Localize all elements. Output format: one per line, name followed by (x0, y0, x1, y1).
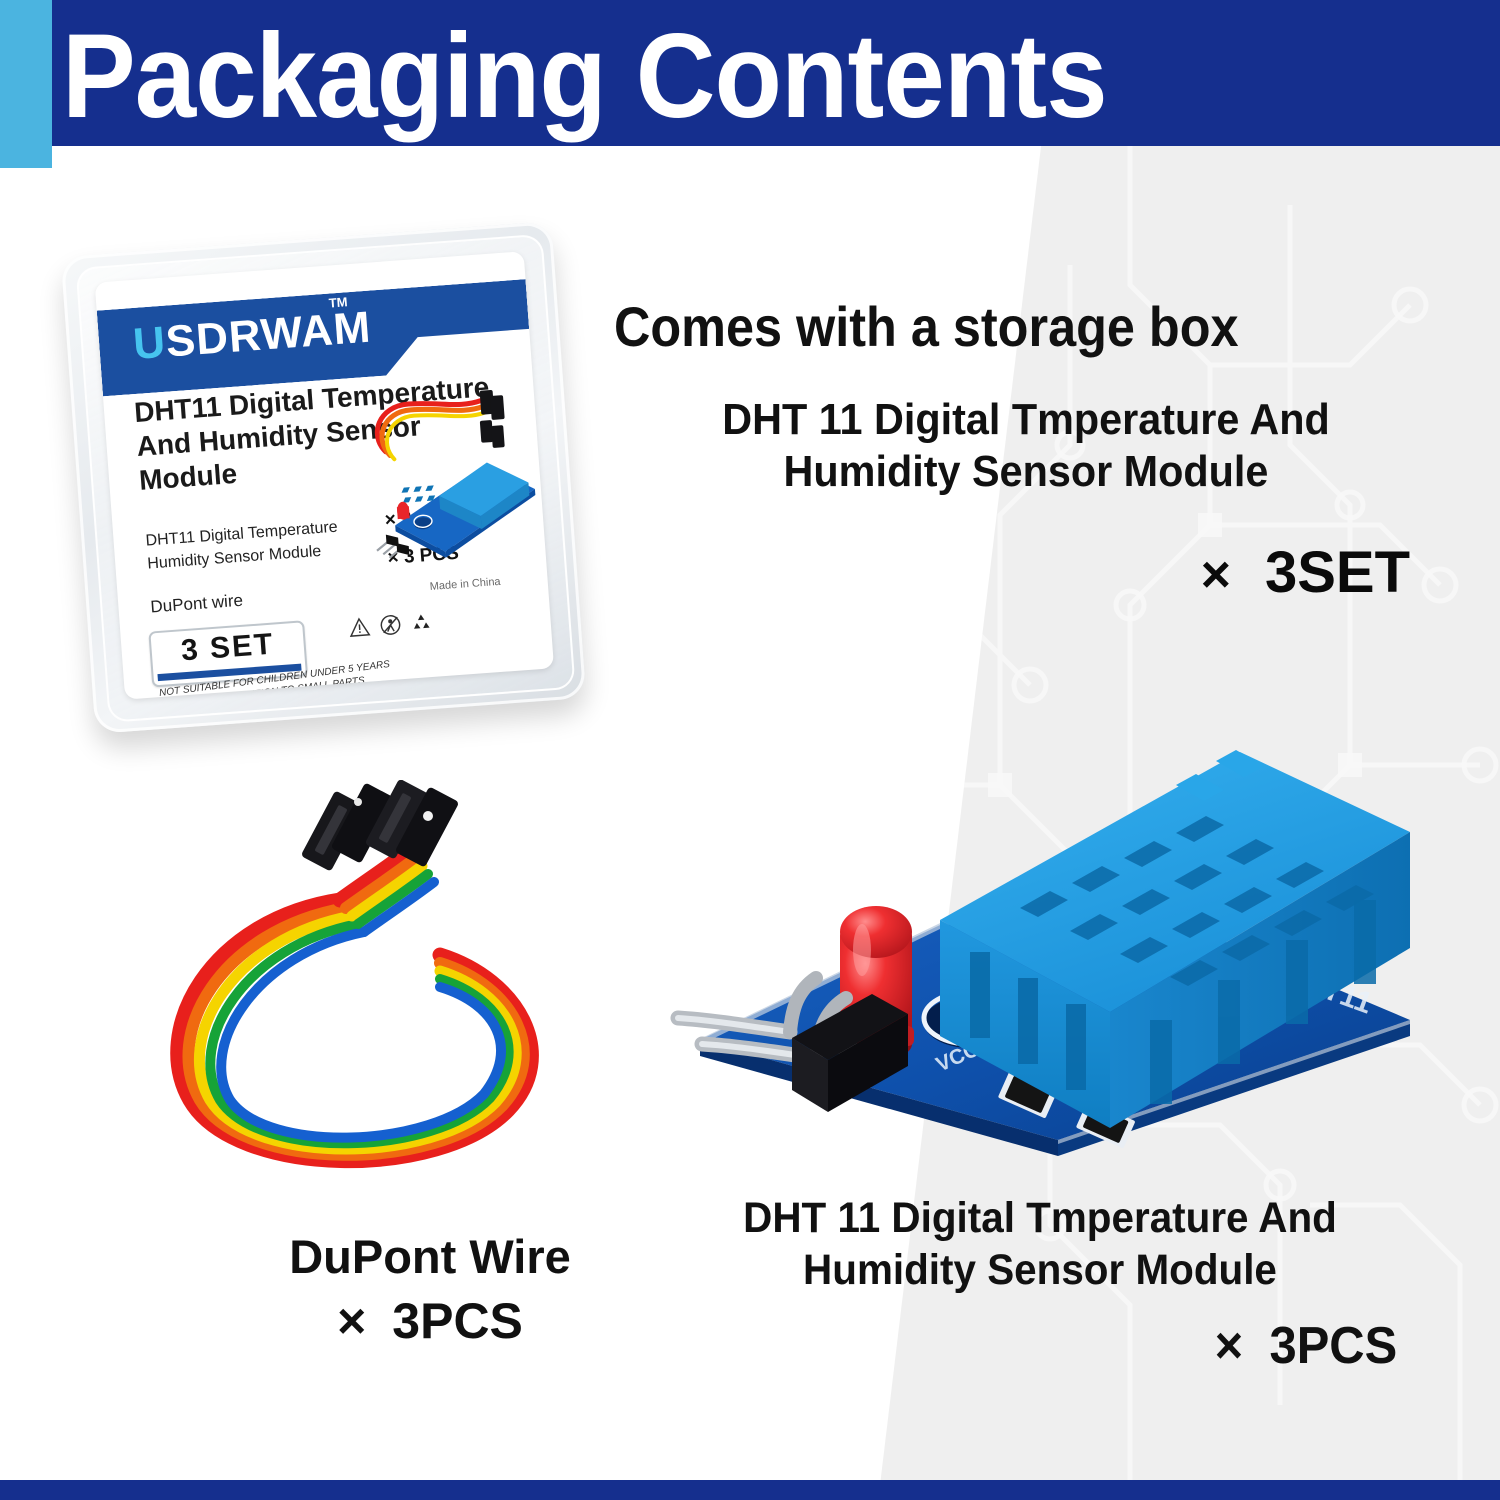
storage-box-headline: Comes with a storage box (614, 296, 1239, 358)
storage-box-quantity: ×3SET (1000, 540, 1410, 608)
multiplier-symbol: × (337, 1293, 366, 1349)
safety-icon-group (348, 611, 433, 639)
label-contents-line-3: DuPont wire (150, 591, 244, 618)
multiplier-symbol: × (1215, 1317, 1244, 1375)
label-mini-module (371, 459, 539, 563)
page-title: Packaging Contents (62, 6, 1107, 146)
dupont-wire-photo (140, 780, 570, 1200)
sensor-module-photo: DHT11 VCC GND (640, 720, 1440, 1160)
dupont-caption: DuPont Wire ×3PCS (180, 1228, 680, 1350)
dupont-caption-name: DuPont Wire (180, 1228, 680, 1286)
storage-box-subhead-line-2: Humidity Sensor Module (669, 446, 1383, 498)
trademark-mark: TM (328, 294, 348, 310)
storage-box-quantity-value: 3SET (1265, 540, 1410, 605)
dupont-quantity-value: 3PCS (392, 1293, 523, 1349)
label-mini-connector (478, 389, 507, 449)
sensor-caption: DHT 11 Digital Tmperature And Humidity S… (683, 1192, 1397, 1372)
wire-connector-housings (301, 780, 460, 872)
label-contents-list: DHT11 Digital Temperature Humidity Senso… (145, 513, 378, 576)
storage-box-subhead: DHT 11 Digital Tmperature And Humidity S… (669, 394, 1383, 498)
warning-triangle-icon (348, 615, 372, 639)
dupont-caption-quantity: ×3PCS (180, 1292, 680, 1350)
header-accent-bar (0, 0, 52, 168)
brand-logo-u: U (131, 318, 167, 369)
sensor-caption-quantity: ×3PCS (683, 1320, 1397, 1372)
dht11-sensor-housing (940, 750, 1410, 1128)
label-product-photo (361, 379, 544, 581)
no-children-under-3-icon (379, 613, 403, 637)
footer-bar (0, 1480, 1500, 1500)
sensor-quantity-value: 3PCS (1270, 1317, 1398, 1375)
sensor-caption-line-2: Humidity Sensor Module (683, 1244, 1397, 1296)
set-count-badge-text: 3 SET (151, 625, 305, 670)
label-origin: Made in China (429, 576, 501, 593)
storage-box-photo: USDRWAM TM DHT11 Digital Temperature And… (52, 206, 609, 763)
storage-box-subhead-line-1: DHT 11 Digital Tmperature And (669, 394, 1383, 446)
wire-ribbon-loop (178, 900, 532, 1161)
multiplier-symbol: × (1201, 546, 1231, 604)
box-label: USDRWAM TM DHT11 Digital Temperature And… (95, 251, 554, 699)
recycling-icon (410, 611, 434, 635)
label-mini-wire (375, 398, 488, 460)
infographic-canvas: Packaging Contents USDRWAM TM DHT11 Digi… (0, 0, 1500, 1500)
sensor-caption-line-1: DHT 11 Digital Tmperature And (683, 1192, 1397, 1244)
